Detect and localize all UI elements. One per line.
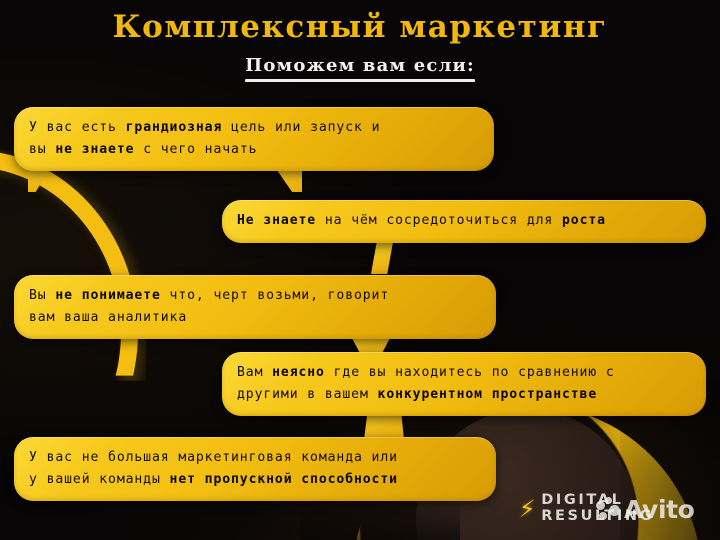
ring-bottom-fade — [300, 498, 460, 540]
bubble-text-emphasis: неясно — [272, 365, 325, 380]
bubble-text-line: Не знаете на чём сосредоточиться для рос… — [237, 210, 691, 232]
bubble-text-line: Вам неясно где вы находитесь по сравнени… — [237, 362, 691, 384]
bubble-text-run: Вам — [237, 365, 272, 380]
bubble-text-run: У вас есть — [29, 120, 126, 135]
pain-point-bubble-1: У вас есть грандиозная цель или запуск и… — [14, 107, 494, 171]
page-subtitle: Поможем вам если: — [245, 55, 475, 77]
bubble-text-run: где вы находитесь по сравнению с — [325, 365, 615, 380]
bubble-text-emphasis: Не знаете — [237, 213, 316, 228]
bubble-text-line: Вы не понимаете что, черт возьми, говори… — [29, 285, 481, 307]
subtitle-underline — [245, 79, 475, 82]
bubble-text-run: цель или запуск и — [222, 120, 380, 135]
subtitle-group: Поможем вам если: — [245, 55, 475, 83]
bubble-text-run: Вы — [29, 288, 55, 303]
bubble-text-run: что, черт возьми, говорит — [161, 288, 389, 303]
bubble-text-run: другими в вашем — [237, 387, 378, 402]
bubble-text-line: у вашей команды нет пропускной способнос… — [29, 469, 481, 491]
pain-point-bubble-2: Не знаете на чём сосредоточиться для рос… — [222, 200, 706, 243]
bubble-text-run: У вас не большая маркетинговая команда и… — [29, 450, 398, 465]
page-title: Комплексный маркетинг — [0, 10, 720, 46]
bubble-text-run: на чём сосредоточиться для — [316, 213, 562, 228]
pain-point-bubble-3: Вы не понимаете что, черт возьми, говори… — [14, 275, 496, 339]
bubble-text-line: другими в вашем конкурентном пространств… — [237, 384, 691, 406]
bubble-text-emphasis: роста — [562, 213, 606, 228]
bubble-text-line: У вас не большая маркетинговая команда и… — [29, 447, 481, 469]
bubble-text-line: У вас есть грандиозная цель или запуск и — [29, 117, 479, 139]
bubble-text-emphasis: нет пропускной способности — [170, 472, 398, 487]
lightning-bolt-icon: ⚡ — [519, 495, 535, 522]
bubble-text-run: с чего начать — [134, 142, 257, 157]
bubble-text-run: вы — [29, 142, 55, 157]
pain-point-bubble-4: Вам неясно где вы находитесь по сравнени… — [222, 352, 706, 416]
bubble-text-emphasis: не знаете — [55, 142, 134, 157]
bubble-text-emphasis: грандиозная — [126, 120, 223, 135]
bubble-text-run: вам ваша аналитика — [29, 310, 187, 325]
poster-canvas: Комплексный маркетинг Поможем вам если: … — [0, 0, 720, 540]
avito-watermark-label: Avito — [624, 497, 694, 523]
bubble-text-run: у вашей команды — [29, 472, 170, 487]
bubble-text-line: вы не знаете с чего начать — [29, 139, 479, 161]
bubble-text-line: вам ваша аналитика — [29, 307, 481, 329]
avito-watermark: Avito — [596, 497, 694, 523]
poster-header: Комплексный маркетинг Поможем вам если: — [0, 0, 720, 82]
bubble-text-emphasis: конкурентном пространстве — [378, 387, 598, 402]
pain-point-bubble-5: У вас не большая маркетинговая команда и… — [14, 437, 496, 501]
avito-dots-icon — [596, 497, 622, 523]
bubble-text-emphasis: не понимаете — [55, 288, 160, 303]
